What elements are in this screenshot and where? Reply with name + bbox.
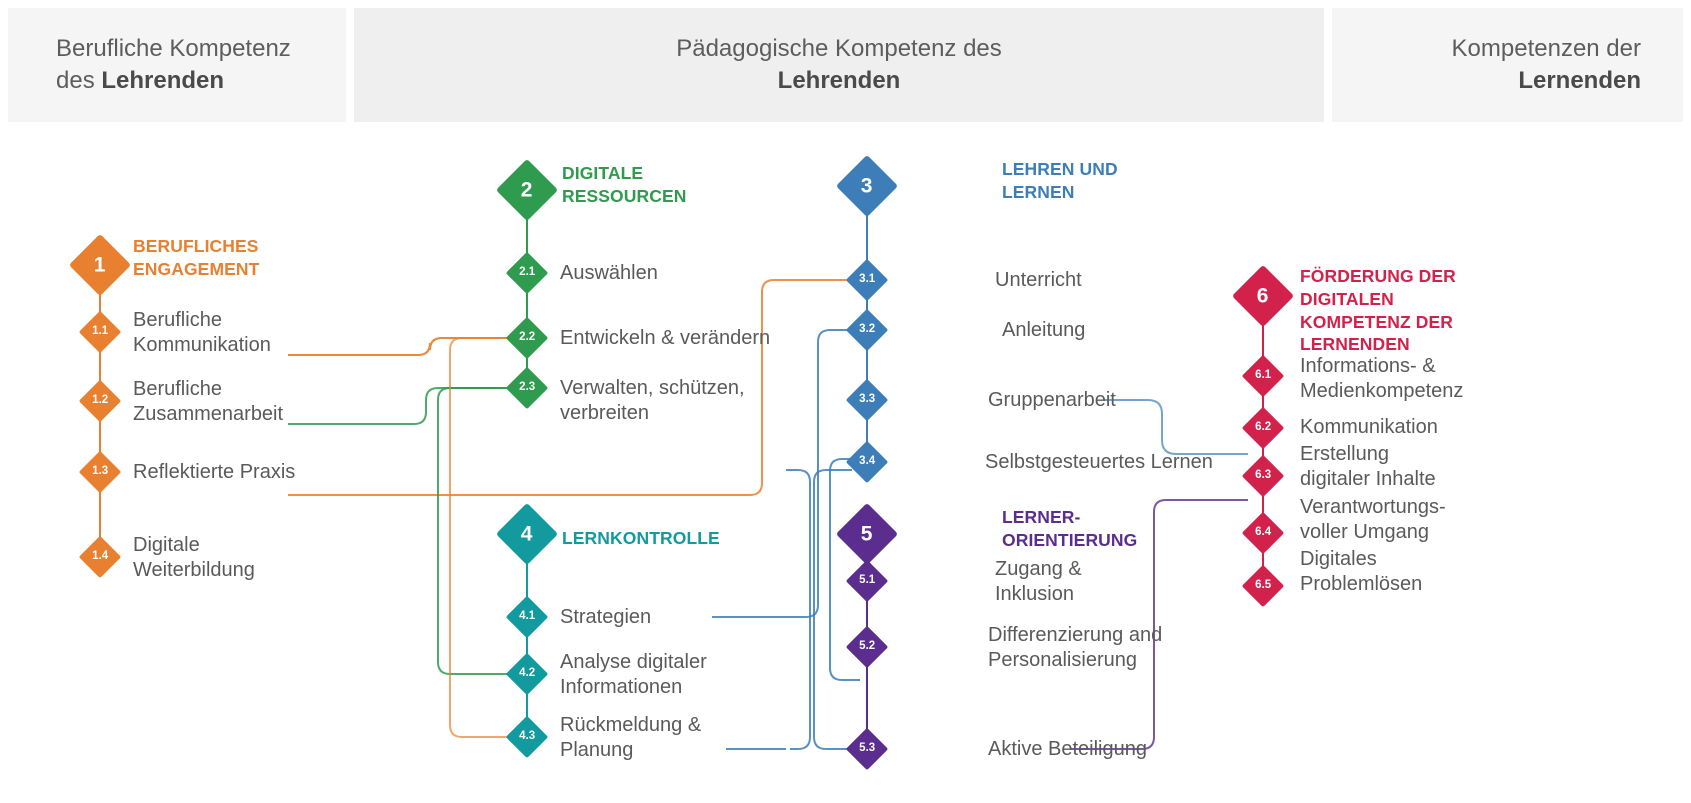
item-2-2-label: Entwickeln & verändern — [560, 326, 860, 351]
item-6-4-label: Verantwortungs- voller Umgang — [1300, 495, 1540, 545]
area-6-title: FÖRDERUNG DER DIGITALEN KOMPETENZ DER LE… — [1300, 265, 1520, 356]
item-3-1-number: 3.1 — [859, 274, 875, 286]
item-3-1-diamond[interactable]: 3.1 — [846, 259, 888, 301]
item-2-1-label: Auswählen — [560, 261, 820, 286]
item-5-2-diamond[interactable]: 5.2 — [846, 626, 888, 668]
area-5-title: LERNER- ORIENTIERUNG — [1002, 506, 1222, 552]
item-3-4-number: 3.4 — [859, 456, 875, 468]
item-1-2-diamond[interactable]: 1.2 — [79, 380, 121, 422]
item-2-3-number: 2.3 — [519, 382, 535, 394]
item-3-3-number: 3.3 — [859, 394, 875, 406]
item-5-3-label: Aktive Beteiligung — [988, 737, 1248, 762]
header-line-1: Kompetenzen der — [1452, 33, 1641, 65]
item-6-2-label: Kommunikation — [1300, 415, 1540, 440]
item-5-1-label: Zugang & Inklusion — [995, 557, 1255, 607]
item-2-2-number: 2.2 — [519, 332, 535, 344]
header-line-2-bold: Lehrenden — [101, 67, 224, 94]
item-4-3-label: Rückmeldung & Planung — [560, 713, 820, 763]
item-6-2-diamond[interactable]: 6.2 — [1242, 407, 1284, 449]
item-3-2-number: 3.2 — [859, 324, 875, 336]
item-6-3-label: Erstellung digitaler Inhalte — [1300, 442, 1540, 492]
area-4-title: LERNKONTROLLE — [562, 527, 802, 550]
item-4-3-diamond[interactable]: 4.3 — [506, 716, 548, 758]
item-2-3-label: Verwalten, schützen, verbreiten — [560, 376, 820, 426]
item-2-1-number: 2.1 — [519, 267, 535, 279]
item-5-1-diamond[interactable]: 5.1 — [846, 560, 888, 602]
area-3-number: 3 — [861, 176, 873, 197]
item-1-2-number: 1.2 — [92, 395, 108, 407]
item-4-1-diamond[interactable]: 4.1 — [506, 596, 548, 638]
area-1-number: 1 — [94, 255, 106, 276]
item-5-3-number: 5.3 — [859, 743, 875, 755]
item-4-1-number: 4.1 — [519, 611, 535, 623]
item-1-3-label: Reflektierte Praxis — [133, 460, 353, 485]
header-line-2: Lehrenden — [778, 65, 901, 97]
item-6-5-number: 6.5 — [1255, 580, 1271, 592]
item-6-4-number: 6.4 — [1255, 527, 1271, 539]
wire-3-4-to-5-3 — [814, 470, 860, 749]
item-1-4-label: Digitale Weiterbildung — [133, 533, 343, 583]
header-line-2: Lernenden — [1518, 65, 1641, 97]
item-5-1-number: 5.1 — [859, 575, 875, 587]
area-1-diamond[interactable]: 1 — [69, 234, 131, 296]
item-1-3-number: 1.3 — [92, 466, 108, 478]
diagram-root: Berufliche Kompetenz des Lehrenden Pädag… — [0, 0, 1691, 803]
area-5-number: 5 — [861, 524, 873, 545]
item-1-4-diamond[interactable]: 1.4 — [79, 536, 121, 578]
item-6-4-diamond[interactable]: 6.4 — [1242, 512, 1284, 554]
item-6-5-label: Digitales Problemlösen — [1300, 547, 1540, 597]
item-4-2-label: Analyse digitaler Informationen — [560, 650, 820, 700]
item-5-2-label: Differenzierung and Personalisierung — [988, 623, 1258, 673]
area-3-title: LEHREN UND LERNEN — [1002, 158, 1202, 204]
item-1-4-number: 1.4 — [92, 551, 108, 563]
item-6-1-label: Informations- & Medienkompetenz — [1300, 354, 1540, 404]
item-1-1-number: 1.1 — [92, 326, 108, 338]
wire-4-1-to-3-2 — [712, 330, 852, 617]
item-1-2-label: Berufliche Zusammenarbeit — [133, 377, 343, 427]
header-line-2-plain: des — [56, 67, 101, 94]
item-3-1-label: Unterricht — [995, 268, 1255, 293]
item-1-1-label: Berufliche Kommunikation — [133, 308, 343, 358]
header-line-2: des Lehrenden — [56, 65, 224, 97]
header-line-2-bold: Lernenden — [1518, 67, 1641, 94]
area-4-diamond[interactable]: 4 — [496, 503, 558, 565]
item-5-2-number: 5.2 — [859, 641, 875, 653]
item-1-3-diamond[interactable]: 1.3 — [79, 451, 121, 493]
item-6-1-number: 6.1 — [1255, 370, 1271, 382]
area-2-number: 2 — [521, 180, 533, 201]
item-4-2-number: 4.2 — [519, 668, 535, 680]
item-3-4-diamond[interactable]: 3.4 — [846, 441, 888, 483]
item-3-3-label: Gruppenarbeit — [988, 388, 1248, 413]
item-3-2-label: Anleitung — [1002, 318, 1262, 343]
area-4-number: 4 — [521, 524, 533, 545]
header-line-1: Pädagogische Kompetenz des — [676, 33, 1002, 65]
header-band: Berufliche Kompetenz des Lehrenden Pädag… — [0, 0, 1691, 122]
header-column-paedagogische-kompetenz: Pädagogische Kompetenz des Lehrenden — [354, 8, 1324, 122]
area-2-title: DIGITALE RESSOURCEN — [562, 162, 772, 208]
item-3-3-diamond[interactable]: 3.3 — [846, 379, 888, 421]
item-3-4-label: Selbstgesteuertes Lernen — [985, 450, 1285, 475]
item-2-1-diamond[interactable]: 2.1 — [506, 252, 548, 294]
header-column-berufliche-kompetenz: Berufliche Kompetenz des Lehrenden — [8, 8, 346, 122]
header-line-2-bold: Lehrenden — [778, 67, 901, 94]
area-3-diamond[interactable]: 3 — [836, 155, 898, 217]
header-column-kompetenzen-lernenden: Kompetenzen der Lernenden — [1332, 8, 1683, 122]
item-6-1-diamond[interactable]: 6.1 — [1242, 355, 1284, 397]
item-2-2-diamond[interactable]: 2.2 — [506, 317, 548, 359]
item-2-3-diamond[interactable]: 2.3 — [506, 367, 548, 409]
item-4-2-diamond[interactable]: 4.2 — [506, 653, 548, 695]
area-1-title: BERUFLICHES ENGAGEMENT — [133, 235, 333, 281]
area-6-number: 6 — [1257, 286, 1269, 307]
item-1-1-diamond[interactable]: 1.1 — [79, 311, 121, 353]
item-4-1-label: Strategien — [560, 605, 820, 630]
item-4-3-number: 4.3 — [519, 731, 535, 743]
item-6-3-number: 6.3 — [1255, 470, 1271, 482]
item-6-2-number: 6.2 — [1255, 422, 1271, 434]
item-5-3-diamond[interactable]: 5.3 — [846, 728, 888, 770]
area-2-diamond[interactable]: 2 — [496, 159, 558, 221]
area-5-diamond[interactable]: 5 — [836, 503, 898, 565]
header-line-1: Berufliche Kompetenz — [56, 33, 291, 65]
